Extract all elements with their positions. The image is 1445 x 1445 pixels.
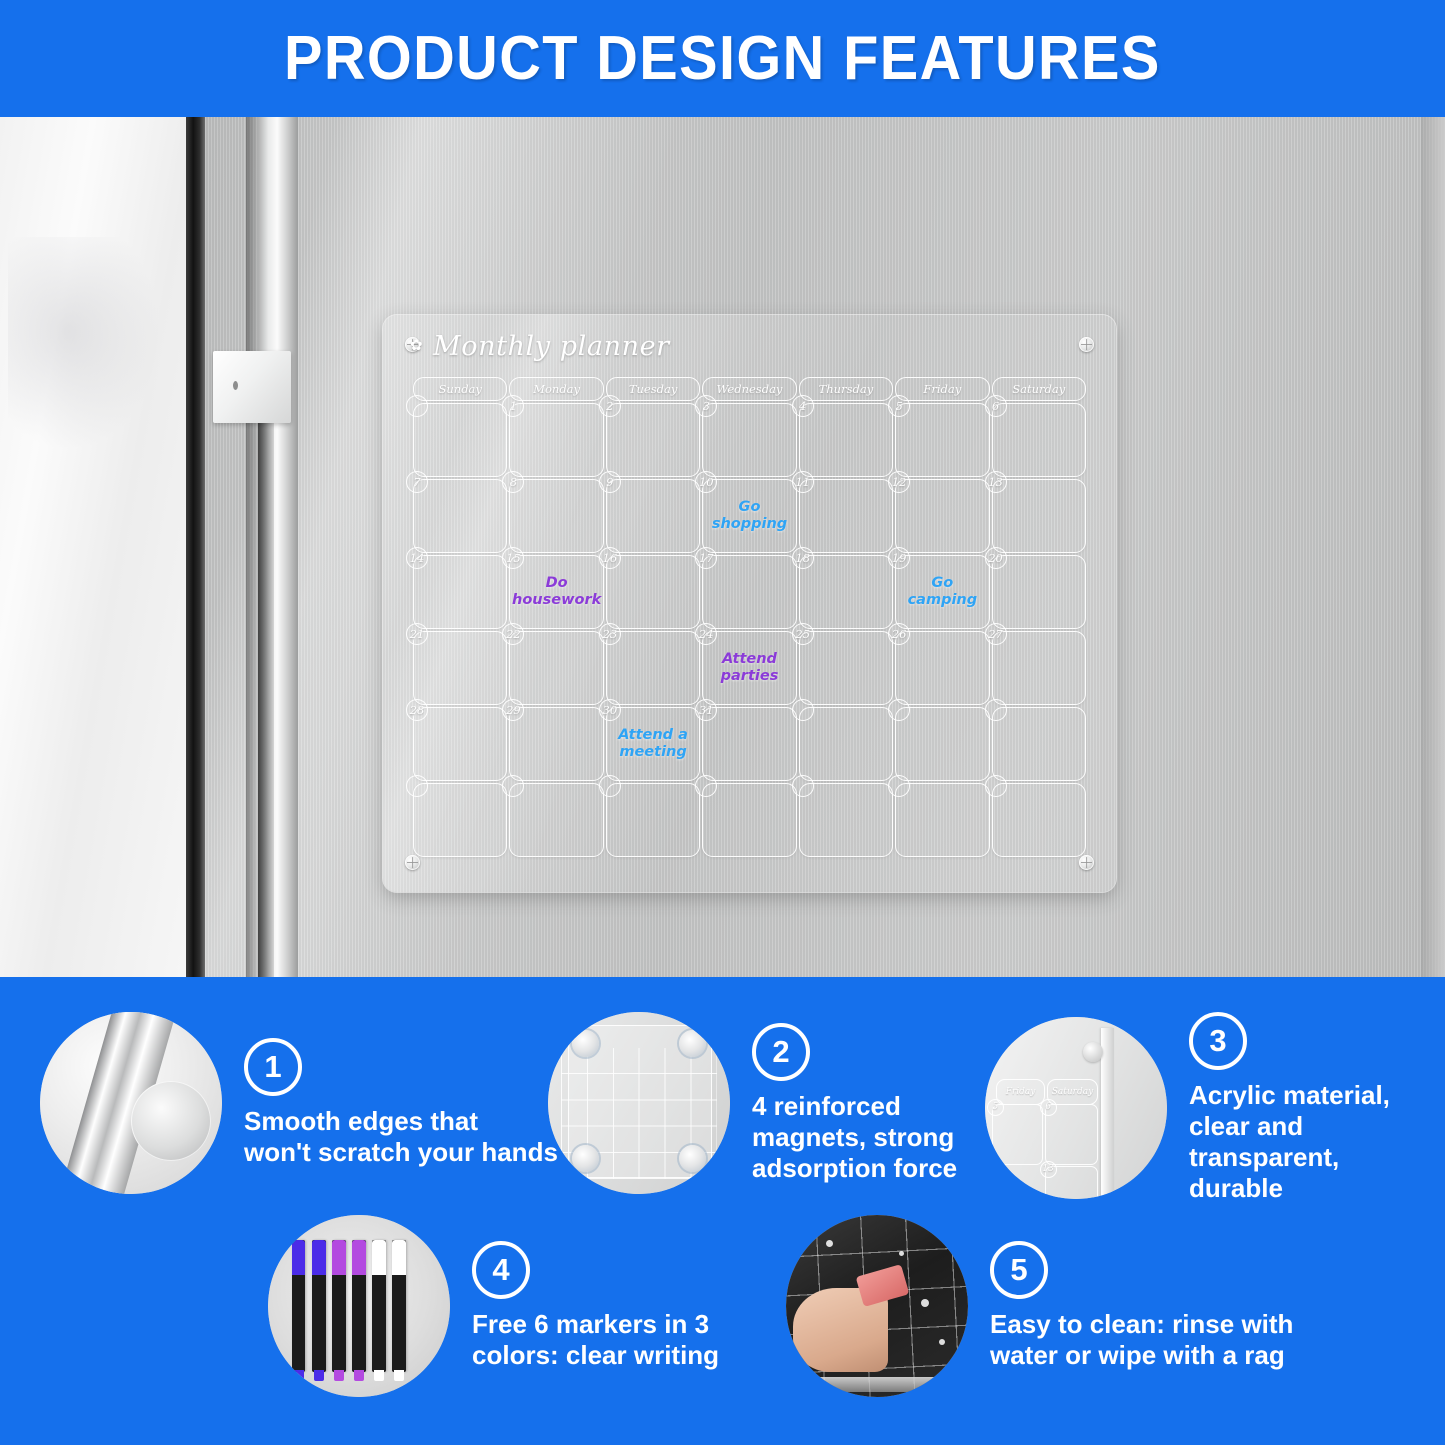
- calendar-cell[interactable]: 8: [509, 479, 603, 553]
- flower-icon: ✿: [410, 338, 425, 353]
- calendar-cell[interactable]: 7: [413, 479, 507, 553]
- calendar-cell[interactable]: [799, 707, 893, 781]
- thumb3-num-6: 6: [1040, 1099, 1057, 1116]
- calendar-cell[interactable]: 26: [895, 631, 989, 705]
- calendar-day-header: Monday: [509, 377, 603, 401]
- calendar-cell[interactable]: 14: [413, 555, 507, 629]
- calendar-cell[interactable]: 21: [413, 631, 507, 705]
- calendar-day-number: [599, 775, 621, 797]
- calendar-day-number: 11: [792, 471, 814, 493]
- calendar-day-number: 31: [695, 699, 717, 721]
- feature-4-number-badge: 4: [472, 1241, 530, 1299]
- calendar-day-number: 3: [695, 395, 717, 417]
- calendar-cell[interactable]: 28: [413, 707, 507, 781]
- calendar-cell[interactable]: 30Attend a meeting: [606, 707, 700, 781]
- calendar-cell[interactable]: 29: [509, 707, 603, 781]
- calendar-grid: 12345678910Go shopping1112131415Do house…: [413, 403, 1086, 857]
- feature-5-number-badge: 5: [990, 1241, 1048, 1299]
- calendar-day-number: 14: [406, 547, 428, 569]
- calendar-day-number: 25: [792, 623, 814, 645]
- bracket-screw-icon: [233, 381, 238, 390]
- calendar-day-number: 1: [502, 395, 524, 417]
- calendar-day-number: 12: [888, 471, 910, 493]
- calendar-day-number: 9: [599, 471, 621, 493]
- calendar-cell[interactable]: [799, 783, 893, 857]
- calendar-cell[interactable]: 3: [702, 403, 796, 477]
- feature-item-5: 5 Easy to clean: rinse with water or wip…: [786, 1215, 1293, 1397]
- feature-3-number-badge: 3: [1189, 1012, 1247, 1070]
- calendar-day-header: Tuesday: [606, 377, 700, 401]
- calendar-day-number: 28: [406, 699, 428, 721]
- calendar-cell[interactable]: 2: [606, 403, 700, 477]
- feature-item-2: 2 4 reinforced magnets, strong adsorptio…: [548, 1012, 957, 1194]
- acrylic-planner-board: ✿ Monthly planner SundayMondayTuesdayWed…: [383, 315, 1116, 892]
- calendar-day-number: [695, 775, 717, 797]
- calendar-day-header: Saturday: [992, 377, 1086, 401]
- feature-2-thumbnail: [548, 1012, 730, 1194]
- feature-item-3: Friday Saturday 5 6 13 3 Acrylic materia…: [985, 1012, 1445, 1204]
- calendar-day-number: [792, 699, 814, 721]
- thumb3-day-friday: Friday: [996, 1079, 1045, 1105]
- calendar-day-number: 16: [599, 547, 621, 569]
- calendar-day-number: 26: [888, 623, 910, 645]
- feature-4-text: Free 6 markers in 3 colors: clear writin…: [472, 1309, 719, 1371]
- feature-2-number-badge: 2: [752, 1023, 810, 1081]
- calendar-day-number: 17: [695, 547, 717, 569]
- calendar-cell[interactable]: 13: [992, 479, 1086, 553]
- features-section: 1 Smooth edges that won't scratch your h…: [0, 977, 1445, 1445]
- calendar-day-number: 29: [502, 699, 524, 721]
- feature-3-text: Acrylic material, clear and transparent,…: [1189, 1080, 1445, 1204]
- hero-product-photo: ✿ Monthly planner SundayMondayTuesdayWed…: [0, 117, 1445, 977]
- calendar-day-number: 20: [985, 547, 1007, 569]
- feature-2-text: 4 reinforced magnets, strong adsorption …: [752, 1091, 957, 1184]
- calendar-day-number: 13: [985, 471, 1007, 493]
- header-banner: PRODUCT DESIGN FEATURES: [0, 0, 1445, 117]
- calendar-cell[interactable]: [413, 783, 507, 857]
- calendar-day-number: [985, 775, 1007, 797]
- calendar-cell[interactable]: 19Go camping: [895, 555, 989, 629]
- calendar-note: Attend a meeting: [607, 727, 699, 761]
- calendar-cell[interactable]: 11: [799, 479, 893, 553]
- calendar-note: Go shopping: [703, 499, 795, 533]
- calendar-cell[interactable]: 31: [702, 707, 796, 781]
- calendar-cell[interactable]: 18: [799, 555, 893, 629]
- feature-4-thumbnail: [268, 1215, 450, 1397]
- corner-magnet-bottom-right-icon: [1079, 855, 1094, 870]
- calendar-day-number: 8: [502, 471, 524, 493]
- calendar-day-number: 5: [888, 395, 910, 417]
- calendar-day-number: 19: [888, 547, 910, 569]
- feature-5-text: Easy to clean: rinse with water or wipe …: [990, 1309, 1293, 1371]
- calendar-day-number: [406, 775, 428, 797]
- calendar-day-number: 23: [599, 623, 621, 645]
- board-title: Monthly planner: [433, 331, 670, 362]
- calendar-day-number: 30: [599, 699, 621, 721]
- calendar-day-number: [406, 395, 428, 417]
- calendar-cell[interactable]: [992, 707, 1086, 781]
- refrigerator-right-edge: [1421, 117, 1445, 977]
- refrigerator-left-door: [0, 117, 186, 977]
- feature-item-1: 1 Smooth edges that won't scratch your h…: [40, 1012, 558, 1194]
- calendar-day-number: 22: [502, 623, 524, 645]
- handle-bracket: [213, 351, 291, 423]
- calendar-cell[interactable]: [992, 783, 1086, 857]
- calendar-cell[interactable]: 15Do housework: [509, 555, 603, 629]
- calendar-day-header: Sunday: [413, 377, 507, 401]
- calendar-cell[interactable]: 6: [992, 403, 1086, 477]
- calendar-day-number: [888, 775, 910, 797]
- calendar-cell[interactable]: 5: [895, 403, 989, 477]
- calendar-cell[interactable]: 16: [606, 555, 700, 629]
- calendar-note: Attend parties: [703, 651, 795, 685]
- feature-3-thumbnail: Friday Saturday 5 6 13: [985, 1017, 1167, 1199]
- calendar-day-number: [792, 775, 814, 797]
- calendar-cell[interactable]: [895, 783, 989, 857]
- calendar-cell[interactable]: 20: [992, 555, 1086, 629]
- page-title: PRODUCT DESIGN FEATURES: [284, 23, 1161, 94]
- calendar-cell[interactable]: 12: [895, 479, 989, 553]
- refrigerator-door-gap: [186, 117, 205, 977]
- calendar-cell[interactable]: 1: [509, 403, 603, 477]
- calendar-cell[interactable]: 23: [606, 631, 700, 705]
- calendar-day-header: Thursday: [799, 377, 893, 401]
- feature-1-number-badge: 1: [244, 1038, 302, 1096]
- calendar-cell[interactable]: 22: [509, 631, 603, 705]
- calendar-day-number: 6: [985, 395, 1007, 417]
- calendar-day-number: 2: [599, 395, 621, 417]
- calendar-day-number: 7: [406, 471, 428, 493]
- feature-1-thumbnail: [40, 1012, 222, 1194]
- feature-5-thumbnail: [786, 1215, 968, 1397]
- feature-item-4: 4 Free 6 markers in 3 colors: clear writ…: [268, 1215, 719, 1397]
- calendar-day-header: Wednesday: [702, 377, 796, 401]
- calendar-note: Go camping: [896, 575, 988, 609]
- thumb3-num-5: 5: [987, 1099, 1004, 1116]
- calendar-cell[interactable]: [895, 707, 989, 781]
- corner-magnet-bottom-left-icon: [405, 855, 420, 870]
- calendar-day-number: [985, 699, 1007, 721]
- calendar-day-header: Friday: [895, 377, 989, 401]
- calendar-day-number: 27: [985, 623, 1007, 645]
- calendar-day-number: 18: [792, 547, 814, 569]
- calendar-cell[interactable]: 25: [799, 631, 893, 705]
- calendar-day-number: 10: [695, 471, 717, 493]
- calendar-cell[interactable]: 17: [702, 555, 796, 629]
- calendar-day-number: [888, 699, 910, 721]
- calendar-cell[interactable]: 4: [799, 403, 893, 477]
- corner-magnet-top-right-icon: [1079, 337, 1094, 352]
- calendar-day-number: 4: [792, 395, 814, 417]
- calendar-cell[interactable]: 10Go shopping: [702, 479, 796, 553]
- calendar-cell[interactable]: [606, 783, 700, 857]
- thumb3-num-13: 13: [1040, 1161, 1057, 1178]
- feature-1-text: Smooth edges that won't scratch your han…: [244, 1106, 558, 1168]
- calendar-cell[interactable]: [413, 403, 507, 477]
- calendar-cell[interactable]: 27: [992, 631, 1086, 705]
- calendar-cell[interactable]: [509, 783, 603, 857]
- calendar-cell[interactable]: [702, 783, 796, 857]
- calendar-day-number: 24: [695, 623, 717, 645]
- handle-recess: [258, 423, 274, 977]
- calendar-day-number: 15: [502, 547, 524, 569]
- calendar-cell[interactable]: 9: [606, 479, 700, 553]
- calendar-day-number: [502, 775, 524, 797]
- calendar: SundayMondayTuesdayWednesdayThursdayFrid…: [413, 377, 1086, 857]
- calendar-cell[interactable]: 24Attend parties: [702, 631, 796, 705]
- calendar-note: Do housework: [510, 575, 602, 609]
- calendar-day-number: 21: [406, 623, 428, 645]
